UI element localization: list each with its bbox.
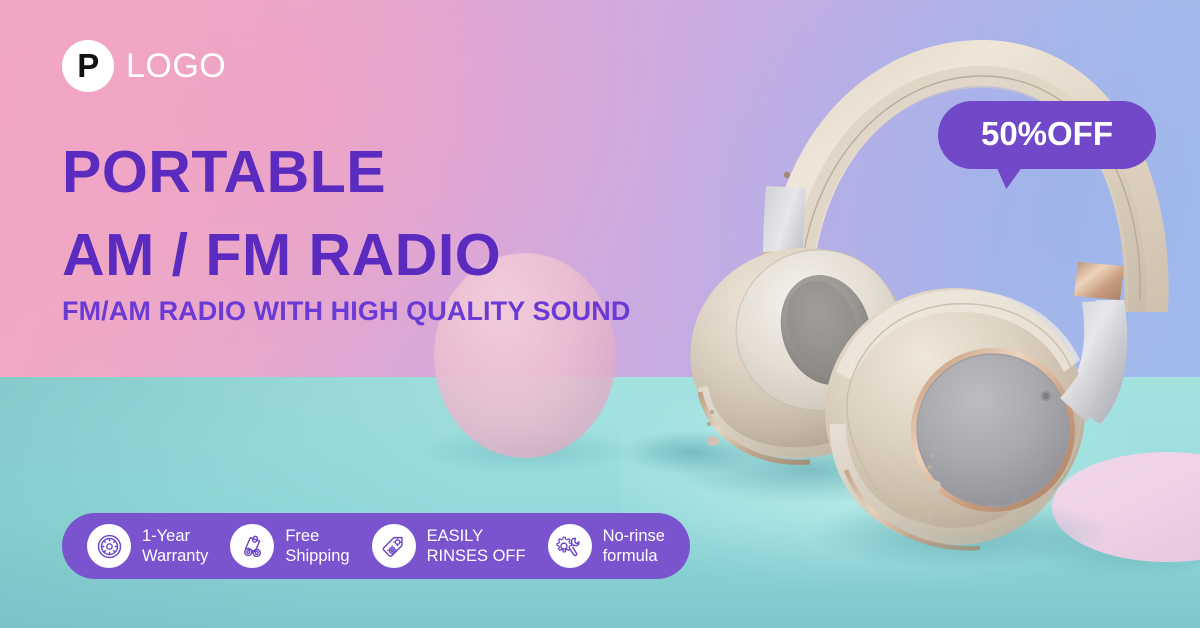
rolls-icon: [230, 524, 274, 568]
gear-wrench-icon: [548, 524, 592, 568]
feature-label-rinses-off: EASILY RINSES OFF: [427, 526, 526, 566]
discount-text: 50%OFF: [981, 115, 1113, 153]
promo-banner: P LOGO PORTABLE AM / FM RADIO FM/AM RADI…: [0, 0, 1200, 628]
headline-line-2: AM / FM RADIO: [62, 226, 682, 285]
feature-item-shipping: Free Shipping: [219, 524, 360, 568]
discount-badge: 50%OFF: [938, 101, 1156, 169]
feature-label-warranty: 1-Year Warranty: [142, 526, 208, 566]
logo-wordmark: LOGO: [126, 47, 226, 86]
feature-label-no-rinse: No-rinse formula: [603, 526, 665, 566]
headline-line-1: PORTABLE: [62, 143, 682, 202]
logo-mark-letter: P: [77, 49, 99, 82]
wheel-icon: [87, 524, 131, 568]
feature-item-rinses-off: EASILY RINSES OFF: [361, 524, 537, 568]
p-monogram-icon: P: [62, 40, 114, 92]
feature-item-no-rinse: No-rinse formula: [537, 524, 676, 568]
headline-block: PORTABLE AM / FM RADIO FM/AM RADIO WITH …: [62, 143, 682, 325]
subheadline: FM/AM RADIO WITH HIGH QUALITY SOUND: [62, 298, 682, 325]
tag-gear-icon: [372, 524, 416, 568]
brand-logo[interactable]: P LOGO: [62, 40, 226, 92]
badge-body: 50%OFF: [938, 101, 1156, 169]
feature-label-shipping: Free Shipping: [285, 526, 349, 566]
feature-item-warranty: 1-Year Warranty: [76, 524, 219, 568]
feature-bar: 1-Year Warranty Free Shipping: [62, 513, 690, 579]
